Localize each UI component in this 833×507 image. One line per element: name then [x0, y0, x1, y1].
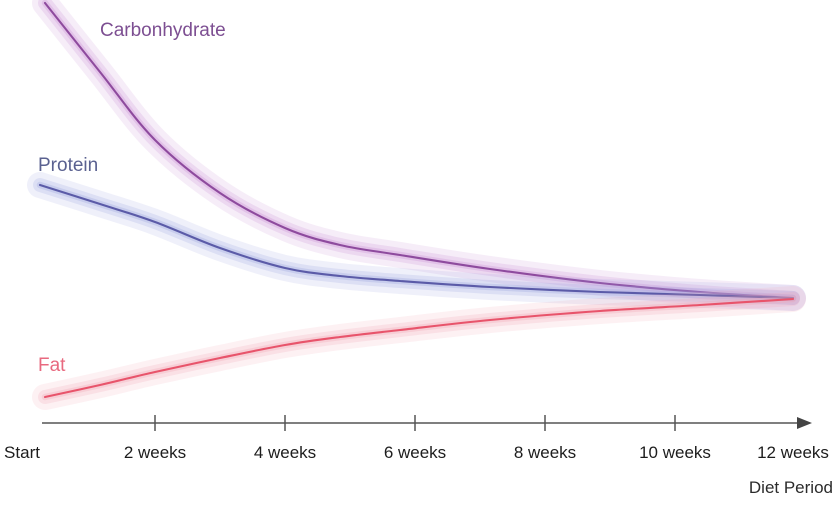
tick-label-2-weeks: 2 weeks — [124, 443, 186, 462]
x-axis-title: Diet Period — [749, 478, 833, 497]
tick-label-8-weeks: 8 weeks — [514, 443, 576, 462]
tick-label-start: Start — [4, 443, 40, 462]
series-label-carbonhydrate: Carbonhydrate — [100, 20, 226, 41]
x-axis-arrow-icon — [797, 417, 812, 429]
series-label-protein: Protein — [38, 155, 98, 176]
series-group-fat — [45, 299, 793, 397]
chart-container: Carbonhydrate Protein Fat Start 2 weeks … — [0, 0, 833, 507]
tick-label-4-weeks: 4 weeks — [254, 443, 316, 462]
tick-label-6-weeks: 6 weeks — [384, 443, 446, 462]
x-axis-tick-labels: Start 2 weeks 4 weeks 6 weeks 8 weeks 10… — [4, 443, 829, 462]
line-chart: Carbonhydrate Protein Fat Start 2 weeks … — [0, 0, 833, 507]
series-group-carbonhydrate — [45, 3, 793, 298]
carbonhydrate-glow-mid — [45, 3, 793, 298]
tick-label-12-weeks: 12 weeks — [757, 443, 829, 462]
series-label-fat: Fat — [38, 355, 66, 376]
x-axis — [42, 415, 812, 431]
fat-glow-outer — [45, 299, 793, 397]
tick-label-10-weeks: 10 weeks — [639, 443, 711, 462]
